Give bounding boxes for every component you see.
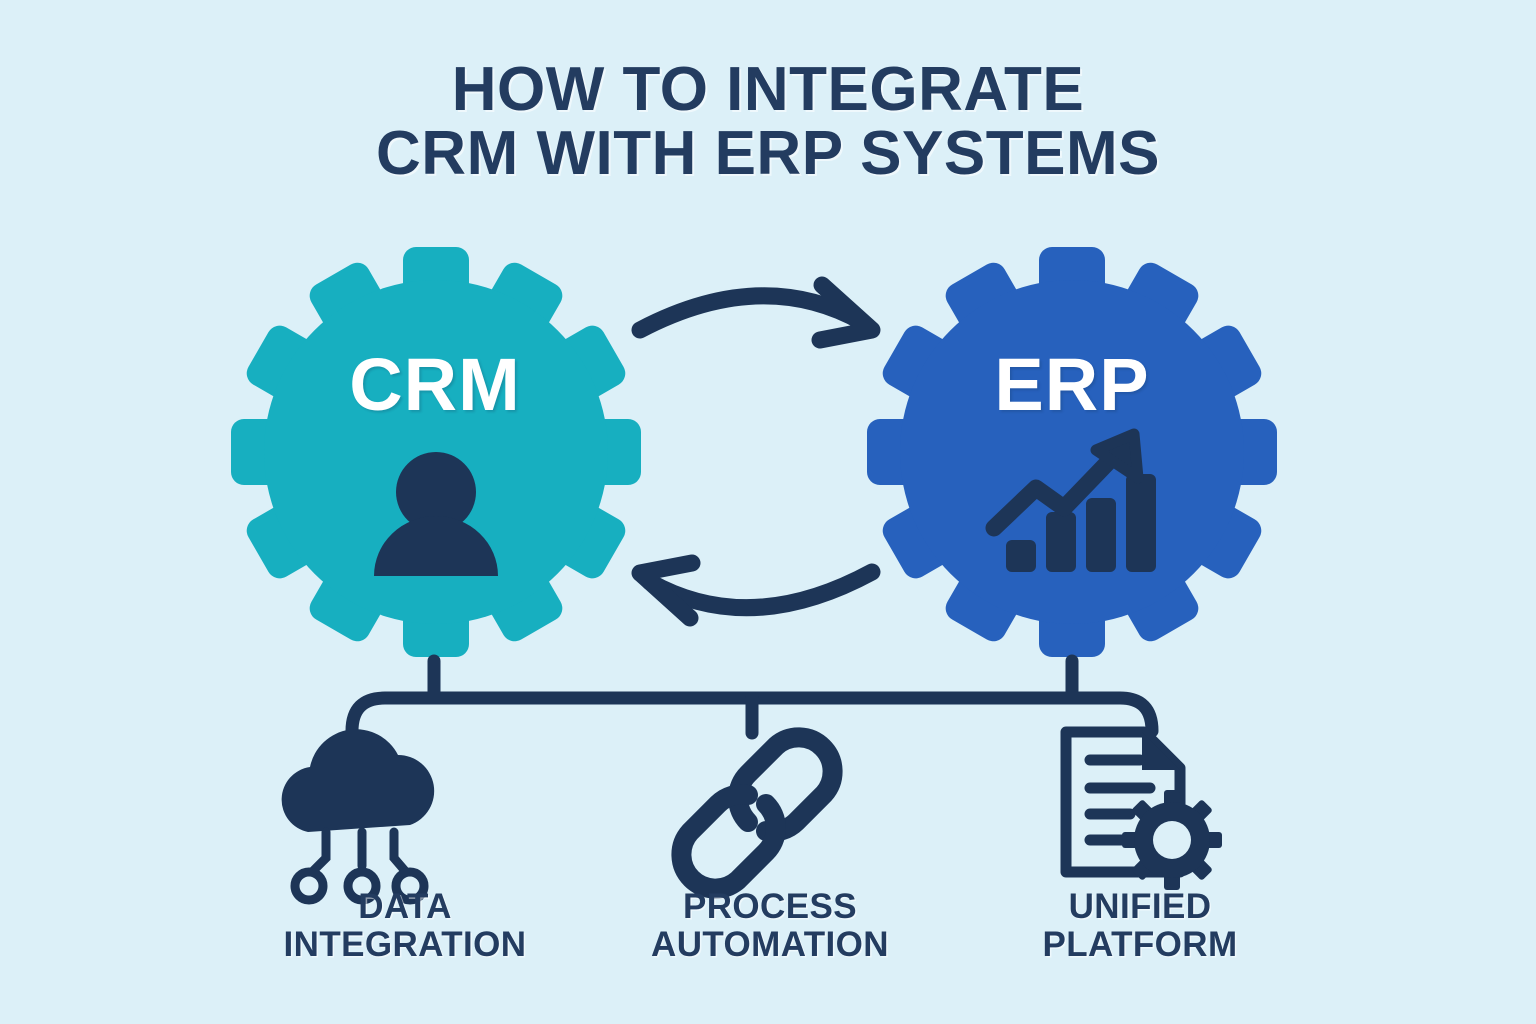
feature-label-line1: PROCESS: [620, 888, 920, 926]
arrow-crm-to-erp: [640, 285, 872, 340]
crm-gear-label: CRM: [285, 342, 585, 427]
cloud-data-icon: [282, 729, 435, 900]
feature-label-line1: DATA: [255, 888, 555, 926]
arrow-erp-to-crm: [640, 563, 872, 618]
infographic-canvas: HOW TO INTEGRATE CRM WITH ERP SYSTEMS: [0, 0, 1536, 1024]
feature-label-unified-platform: UNIFIED PLATFORM: [990, 888, 1290, 964]
feature-label-line2: AUTOMATION: [620, 926, 920, 964]
feature-label-process-automation: PROCESS AUTOMATION: [620, 888, 920, 964]
document-gear-icon: [1066, 732, 1222, 890]
bracket-connector: [352, 661, 1152, 733]
diagram-graphics: [0, 0, 1536, 1024]
feature-label-line2: INTEGRATION: [255, 926, 555, 964]
chain-link-icon: [681, 737, 832, 888]
erp-gear[interactable]: [867, 247, 1277, 657]
erp-gear-label: ERP: [922, 342, 1222, 427]
crm-gear[interactable]: [231, 247, 641, 657]
feature-label-data-integration: DATA INTEGRATION: [255, 888, 555, 964]
feature-label-line1: UNIFIED: [990, 888, 1290, 926]
feature-label-line2: PLATFORM: [990, 926, 1290, 964]
